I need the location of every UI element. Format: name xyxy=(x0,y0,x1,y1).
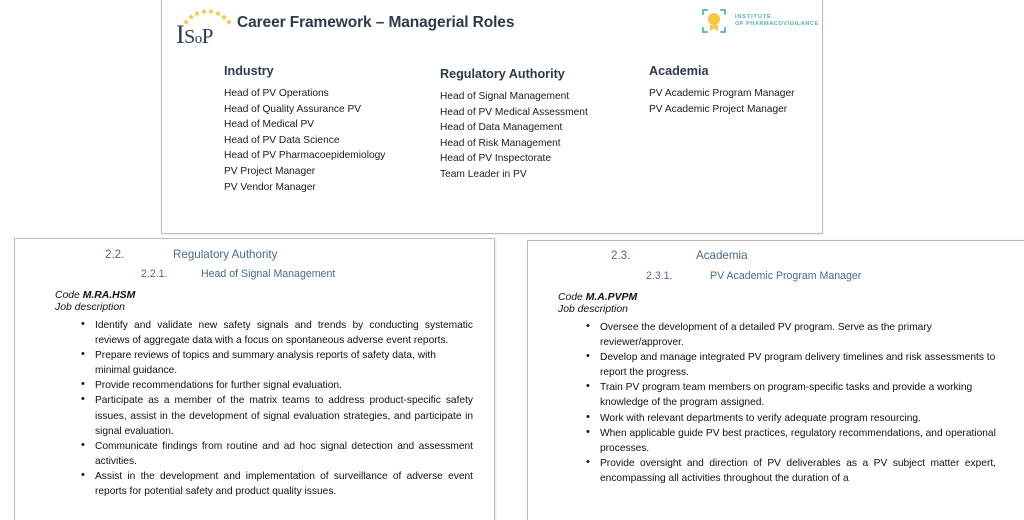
list-item: PV Academic Program Manager xyxy=(649,86,824,102)
subsection-heading-2-3-1: 2.3.1. PV Academic Program Manager xyxy=(646,270,1024,282)
subsection-number: 2.3.1. xyxy=(646,270,710,282)
section-title: Regulatory Authority xyxy=(173,248,277,261)
isop-logo: ISoP xyxy=(174,4,240,48)
subsection-title: Head of Signal Management xyxy=(201,268,335,280)
section-heading-2-3: 2.3. Academia xyxy=(611,249,1024,262)
list-item: Head of PV Pharmacoepidemiology xyxy=(224,148,429,164)
list-item: PV Academic Project Manager xyxy=(649,102,824,118)
code-label: Code xyxy=(55,290,80,301)
column-title-academia: Academia xyxy=(649,64,824,78)
list-item: Provide oversight and direction of PV de… xyxy=(582,456,996,486)
list-item: Head of PV Medical Assessment xyxy=(440,105,640,121)
career-framework-panel: ISoP Career Framework – Managerial Roles xyxy=(161,0,823,234)
column-title-regulatory-authority: Regulatory Authority xyxy=(440,67,640,81)
column-industry: Industry Head of PV Operations Head of Q… xyxy=(224,64,429,195)
section-number: 2.2. xyxy=(105,248,173,261)
svg-text:ISoP: ISoP xyxy=(176,20,213,48)
framework-title: Career Framework – Managerial Roles xyxy=(237,14,514,32)
list-item: Oversee the development of a detailed PV… xyxy=(582,320,996,350)
list-item: PV Project Manager xyxy=(224,164,429,180)
list-item: Head of Data Management xyxy=(440,120,640,136)
section-number: 2.3. xyxy=(611,249,696,262)
list-item: Head of Medical PV xyxy=(224,117,429,133)
document-body: 2.3. Academia 2.3.1. PV Academic Program… xyxy=(528,241,1024,520)
iop-wordmark: INSTITUTE OF PHARMACOVIGILANCE xyxy=(735,14,819,28)
code-line: Code M.A.PVPM xyxy=(558,292,1024,303)
code-line: Code M.RA.HSM xyxy=(55,290,494,301)
iop-line1: INSTITUTE xyxy=(735,14,819,21)
role-list-regulatory-authority: Head of Signal Management Head of PV Med… xyxy=(440,89,640,183)
document-body: 2.2. Regulatory Authority 2.2.1. Head of… xyxy=(15,239,494,520)
job-description-label: Job description xyxy=(55,302,494,313)
iop-mark-icon xyxy=(699,6,729,36)
job-description-bullets: Oversee the development of a detailed PV… xyxy=(582,320,996,486)
column-title-industry: Industry xyxy=(224,64,429,78)
list-item: Head of Risk Management xyxy=(440,136,640,152)
job-description-label: Job description xyxy=(558,304,1024,315)
list-item: Head of PV Inspectorate xyxy=(440,151,640,167)
academia-document-panel: 2.3. Academia 2.3.1. PV Academic Program… xyxy=(527,240,1024,520)
job-description-bullets: Identify and validate new safety signals… xyxy=(77,318,473,499)
list-item: Work with relevant departments to verify… xyxy=(582,411,996,426)
subsection-heading-2-2-1: 2.2.1. Head of Signal Management xyxy=(141,268,494,280)
list-item: Communicate findings from routine and ad… xyxy=(77,439,473,469)
institute-of-pharmacovigilance-logo: INSTITUTE OF PHARMACOVIGILANCE xyxy=(699,6,819,36)
section-title: Academia xyxy=(696,249,748,262)
list-item: Identify and validate new safety signals… xyxy=(77,318,473,348)
list-item: Assist in the development and implementa… xyxy=(77,469,473,499)
subsection-number: 2.2.1. xyxy=(141,268,201,280)
list-item: Participate as a member of the matrix te… xyxy=(77,393,473,438)
list-item: Develop and manage integrated PV program… xyxy=(582,350,996,380)
list-item: Head of Quality Assurance PV xyxy=(224,102,429,118)
panel-header: ISoP Career Framework – Managerial Roles xyxy=(162,0,822,54)
role-list-industry: Head of PV Operations Head of Quality As… xyxy=(224,86,429,195)
screenshot-stage: ISoP Career Framework – Managerial Roles xyxy=(0,0,1024,520)
regulatory-authority-document-panel: 2.2. Regulatory Authority 2.2.1. Head of… xyxy=(14,238,495,520)
list-item: Head of PV Data Science xyxy=(224,133,429,149)
list-item: Head of Signal Management xyxy=(440,89,640,105)
section-heading-2-2: 2.2. Regulatory Authority xyxy=(105,248,494,261)
iop-line2: OF PHARMACOVIGILANCE xyxy=(735,21,819,28)
list-item: Provide recommendations for further sign… xyxy=(77,378,473,393)
column-academia: Academia PV Academic Program Manager PV … xyxy=(649,64,824,117)
code-label: Code xyxy=(558,292,583,303)
code-value: M.A.PVPM xyxy=(586,292,637,303)
list-item: Prepare reviews of topics and summary an… xyxy=(77,348,473,378)
column-regulatory-authority: Regulatory Authority Head of Signal Mana… xyxy=(440,67,640,183)
role-list-academia: PV Academic Program Manager PV Academic … xyxy=(649,86,824,117)
list-item: Train PV program team members on program… xyxy=(582,380,996,410)
list-item: Team Leader in PV xyxy=(440,167,640,183)
subsection-title: PV Academic Program Manager xyxy=(710,270,861,282)
code-value: M.RA.HSM xyxy=(83,290,136,301)
list-item: Head of PV Operations xyxy=(224,86,429,102)
list-item: PV Vendor Manager xyxy=(224,180,429,196)
list-item: When applicable guide PV best practices,… xyxy=(582,426,996,456)
